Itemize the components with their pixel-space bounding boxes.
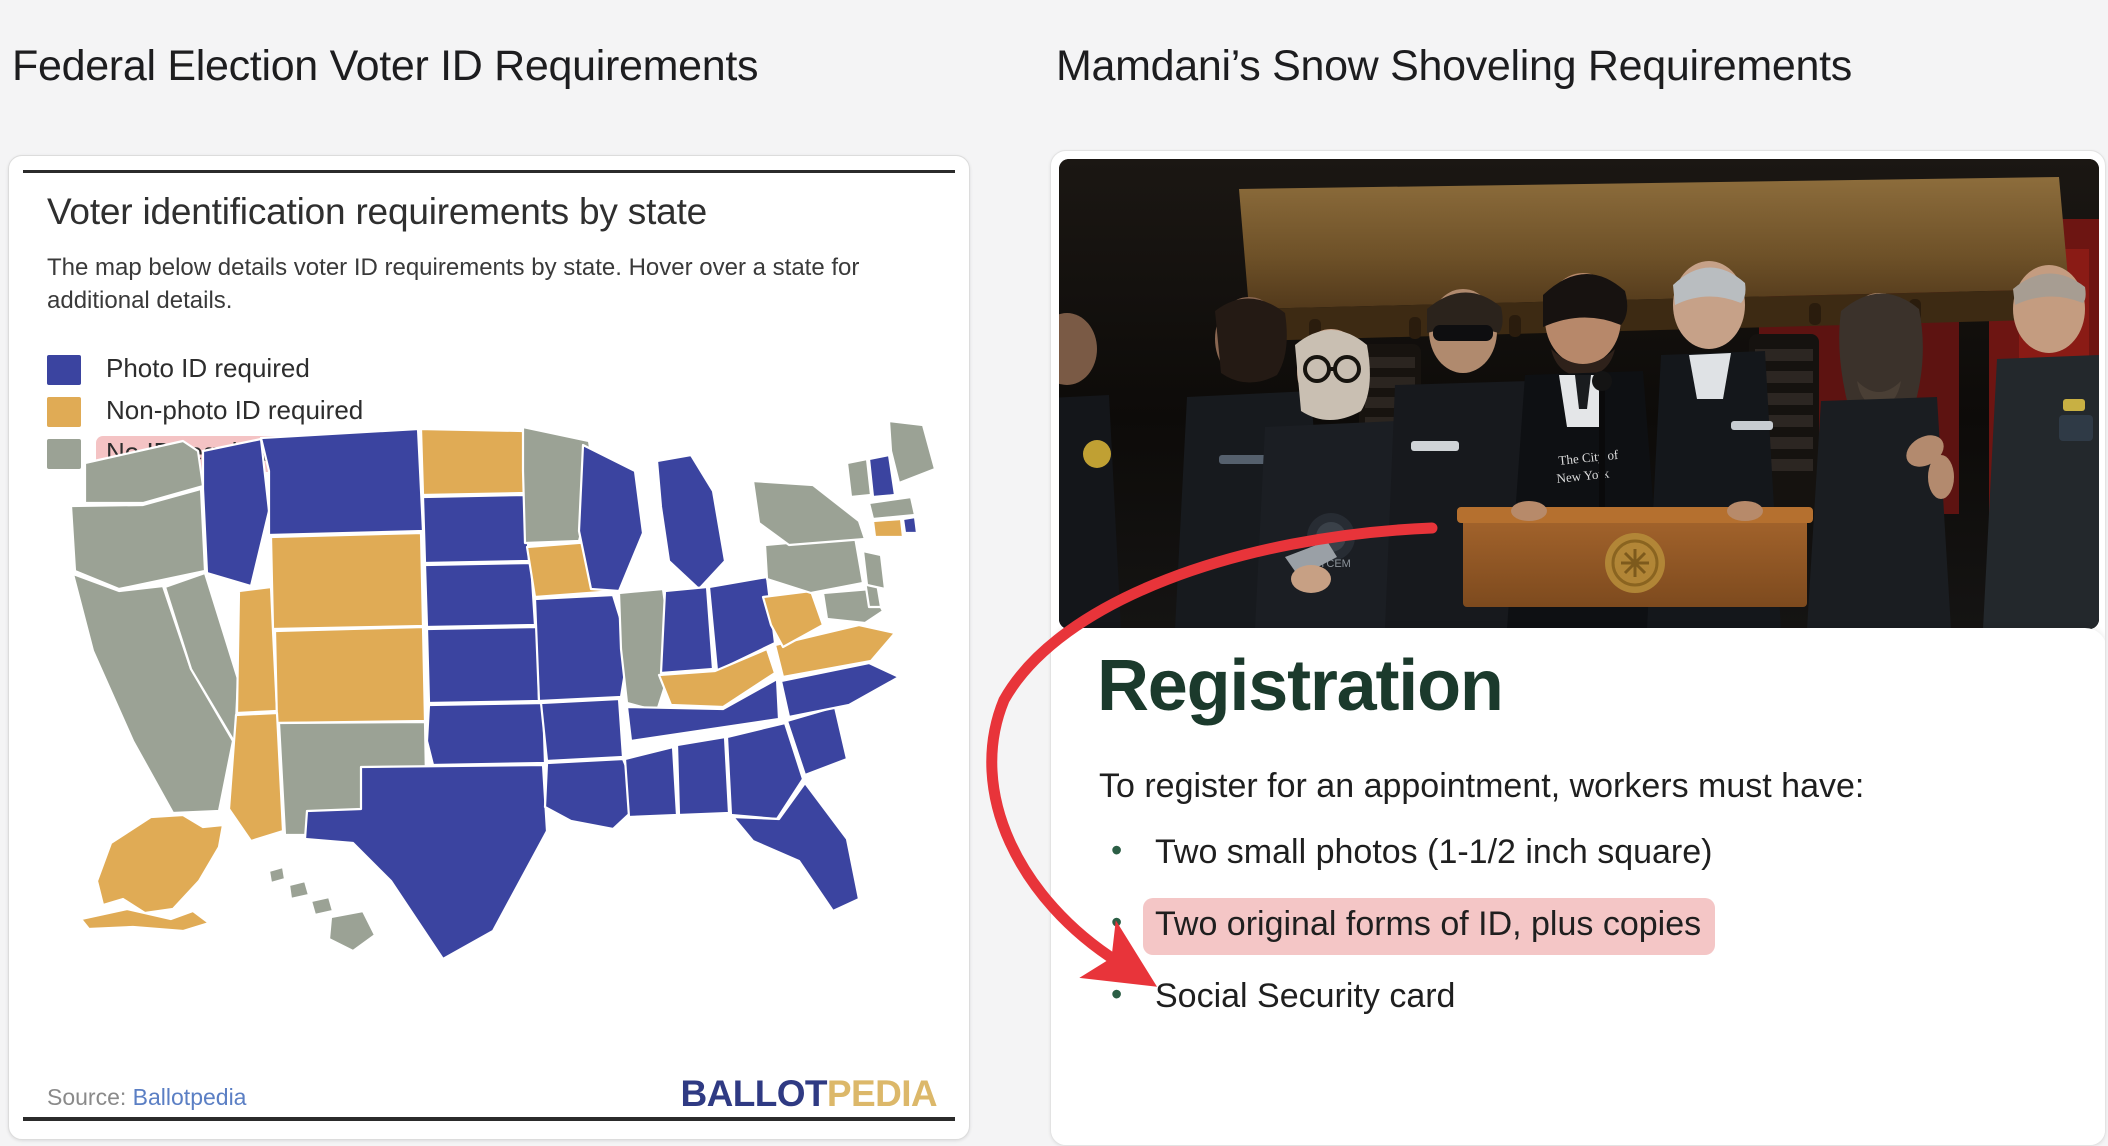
requirement-text: Social Security card	[1143, 970, 1469, 1027]
bullet-icon: •	[1111, 978, 1143, 1010]
state-WI	[579, 445, 643, 591]
state-HI2	[289, 881, 309, 899]
state-AZ	[229, 713, 283, 841]
logo-ballot: BALLOT	[680, 1073, 826, 1114]
legend-item-photo-id[interactable]: Photo ID required	[47, 350, 375, 390]
state-MI	[657, 455, 725, 589]
left-column: Federal Election Voter ID Requirements V…	[0, 0, 1000, 1146]
registration-intro: To register for an appointment, workers …	[1099, 766, 1864, 807]
state-MS	[625, 747, 677, 817]
state-KS	[427, 627, 539, 703]
right-panel-title: Mamdani’s Snow Shoveling Requirements	[1056, 45, 1852, 88]
registration-panel: Registration To register for an appointm…	[1051, 628, 2106, 1146]
us-voter-id-map[interactable]	[23, 411, 955, 1011]
state-MO	[535, 595, 629, 701]
map-heading: Voter identification requirements by sta…	[47, 191, 707, 233]
state-IN	[661, 587, 713, 673]
list-item: • Social Security card	[1111, 970, 2071, 1020]
legend-label-photo-id: Photo ID required	[96, 352, 322, 387]
state-AK	[97, 815, 223, 913]
state-AL	[677, 737, 729, 815]
state-ID	[203, 439, 269, 586]
ballotpedia-footer: Source: Ballotpedia BALLOTPEDIA	[23, 1057, 955, 1121]
map-source-link[interactable]: Ballotpedia	[133, 1084, 247, 1110]
registration-requirements-list: • Two small photos (1-1/2 inch square) •…	[1111, 826, 2071, 1042]
state-AK-aleutians	[81, 909, 209, 931]
ballotpedia-map-card: Voter identification requirements by sta…	[8, 155, 970, 1140]
state-NJ	[863, 551, 885, 589]
press-conference-video[interactable]: NYCEM The City of	[1059, 159, 2099, 629]
state-ME	[889, 421, 935, 483]
state-WY	[271, 533, 423, 629]
requirement-text-highlighted: Two original forms of ID, plus copies	[1143, 898, 1715, 955]
state-HI4	[329, 911, 375, 951]
map-source-prefix: Source:	[47, 1084, 133, 1110]
map-description: The map below details voter ID requireme…	[47, 251, 887, 317]
state-MT	[261, 429, 423, 535]
mamdani-requirements-card: NYCEM The City of	[1050, 150, 2106, 1146]
state-ND	[421, 429, 525, 495]
requirement-text: Two small photos (1-1/2 inch square)	[1143, 826, 1726, 883]
right-column: Mamdani’s Snow Shoveling Requirements	[1038, 0, 2108, 1146]
state-NE	[425, 563, 535, 627]
list-item: • Two original forms of ID, plus copies	[1111, 898, 2071, 948]
state-HI3	[311, 897, 333, 915]
state-MA	[869, 497, 915, 519]
logo-pedia: PEDIA	[827, 1073, 937, 1114]
ballotpedia-inner: Voter identification requirements by sta…	[23, 170, 955, 1129]
list-item: • Two small photos (1-1/2 inch square)	[1111, 826, 2071, 876]
ballotpedia-logo: BALLOTPEDIA	[680, 1073, 937, 1115]
state-RI	[903, 517, 917, 533]
state-UT	[237, 587, 277, 713]
state-NH	[869, 455, 895, 497]
state-HI	[269, 867, 285, 883]
bullet-icon: •	[1111, 834, 1143, 866]
state-PA	[765, 537, 863, 593]
left-panel-title: Federal Election Voter ID Requirements	[12, 45, 758, 88]
map-source: Source: Ballotpedia	[47, 1084, 246, 1111]
state-SD	[423, 495, 529, 563]
state-OK	[427, 703, 545, 765]
registration-heading: Registration	[1097, 650, 1503, 722]
state-VT	[847, 459, 871, 497]
state-CO	[275, 627, 425, 723]
state-CT	[873, 519, 903, 537]
comparison-page: Federal Election Voter ID Requirements V…	[0, 0, 2108, 1146]
bullet-icon: •	[1111, 906, 1143, 938]
legend-swatch-blue	[47, 355, 81, 385]
state-AR	[541, 699, 623, 761]
state-NY	[753, 481, 865, 545]
